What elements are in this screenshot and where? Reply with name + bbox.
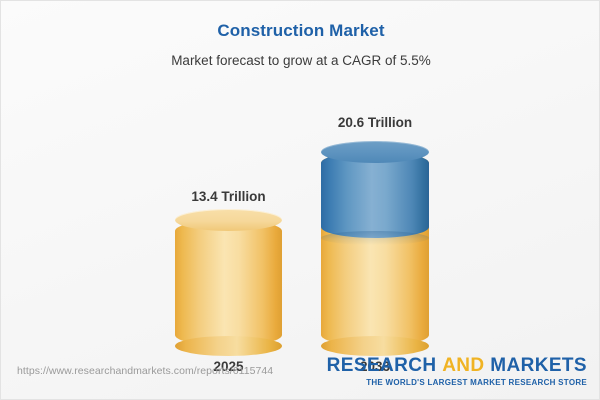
footer: https://www.researchandmarkets.com/repor… — [1, 351, 600, 399]
bar-segment-growth — [321, 152, 429, 238]
bar-value-label-2033: 20.6 Trillion — [338, 115, 412, 130]
chart-title: Construction Market — [1, 21, 600, 41]
plot-area: 13.4 Trillion 2025 20.6 Trillion 2033 — [1, 76, 600, 346]
brand-word-research: RESEARCH — [327, 355, 437, 376]
cylinder-top-cap — [175, 209, 282, 231]
brand-wordmark: RESEARCH AND MARKETS — [327, 356, 587, 376]
cylinder-top-cap — [321, 141, 429, 163]
chart-subtitle: Market forecast to grow at a CAGR of 5.5… — [1, 53, 600, 68]
bar-segment-base — [175, 220, 282, 346]
cylinder-bar-2025[interactable] — [175, 220, 282, 346]
brand-logo[interactable]: RESEARCH AND MARKETS THE WORLD'S LARGEST… — [327, 356, 587, 387]
brand-word-and: AND — [442, 355, 484, 376]
segment-seam — [321, 231, 429, 245]
chart-card: Construction Market Market forecast to g… — [0, 0, 600, 400]
brand-tagline: THE WORLD'S LARGEST MARKET RESEARCH STOR… — [327, 378, 587, 387]
brand-word-markets: MARKETS — [490, 355, 587, 376]
source-url-link[interactable]: https://www.researchandmarkets.com/repor… — [17, 365, 273, 377]
cylinder-bar-2033[interactable] — [321, 152, 429, 346]
bar-value-label-2025: 13.4 Trillion — [191, 189, 265, 204]
